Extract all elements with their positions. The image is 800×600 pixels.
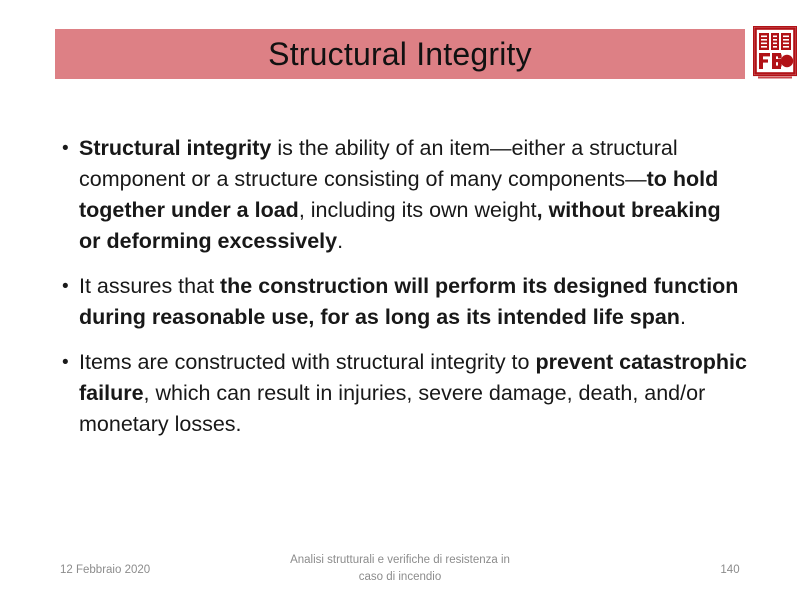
list-item: • It assures that the construction will …: [57, 271, 747, 333]
slide-title-band: Structural Integrity: [55, 29, 745, 79]
presentation-slide: Structural Integrity: [0, 0, 800, 600]
footer-subject-line-1: Analisi strutturali e verifiche di resis…: [250, 552, 550, 569]
footer-date: 12 Febbraio 2020: [60, 564, 150, 576]
page-title: Structural Integrity: [268, 36, 532, 73]
bullet-text-3: Items are constructed with structural in…: [79, 347, 747, 440]
footer-subject: Analisi strutturali e verifiche di resis…: [250, 552, 550, 586]
fb-seal-logo: [753, 26, 797, 80]
footer-subject-line-2: caso di incendio: [250, 569, 550, 586]
bullet-marker-icon: •: [57, 133, 79, 164]
slide-body: • Structural integrity is the ability of…: [57, 133, 747, 440]
bullet-marker-icon: •: [57, 347, 79, 378]
bullet-marker-icon: •: [57, 271, 79, 302]
list-item: • Items are constructed with structural …: [57, 347, 747, 440]
bullet-text-2: It assures that the construction will pe…: [79, 271, 747, 333]
bullet-text-1: Structural integrity is the ability of a…: [79, 133, 747, 257]
list-item: • Structural integrity is the ability of…: [57, 133, 747, 257]
footer-page-number: 140: [700, 564, 760, 576]
